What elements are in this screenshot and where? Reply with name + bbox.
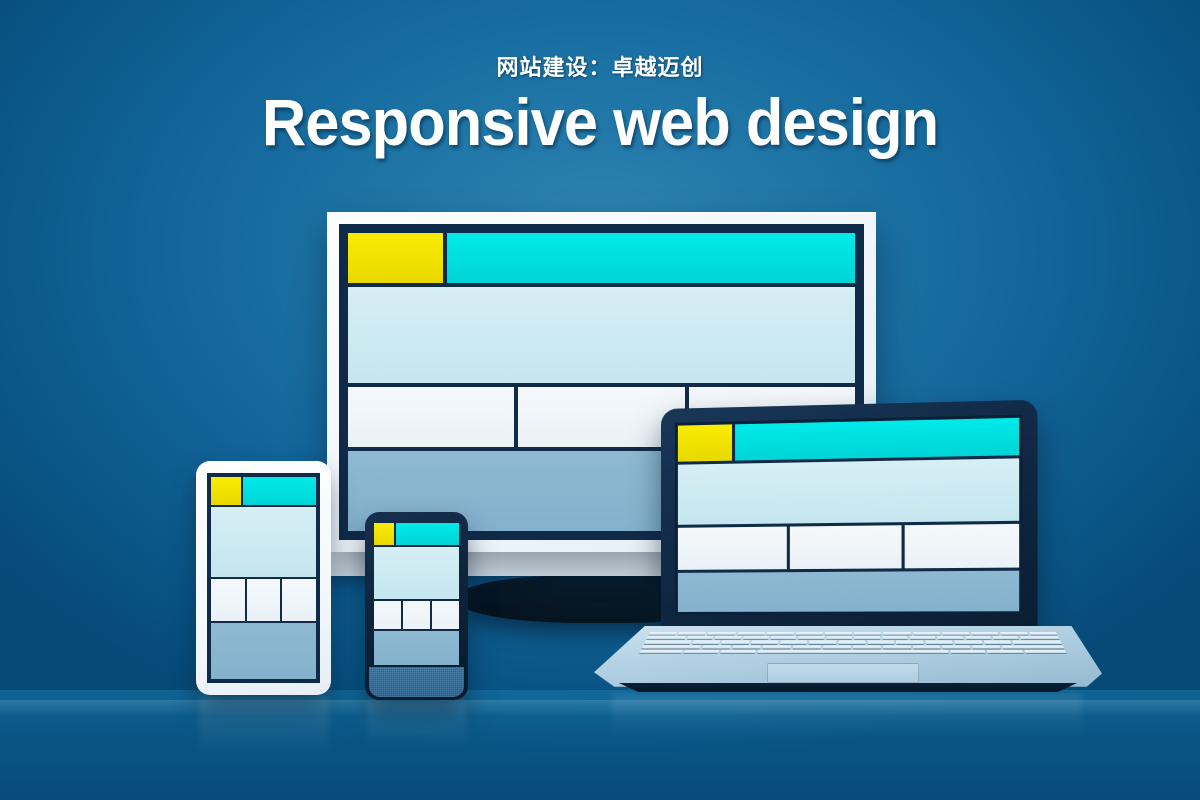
keyboard-key[interactable] xyxy=(702,645,731,648)
subtitle-chinese: 网站建设：卓越迈创 xyxy=(0,50,1200,82)
keyboard-key[interactable] xyxy=(896,641,923,644)
tablet-bezel xyxy=(207,473,320,683)
logo-block[interactable] xyxy=(374,523,394,545)
keyboard-key[interactable] xyxy=(854,632,881,635)
content-card-row xyxy=(374,601,459,629)
tablet-screen[interactable] xyxy=(211,477,316,679)
keyboard-key[interactable] xyxy=(1000,632,1028,635)
keyboard-key[interactable] xyxy=(882,636,908,639)
keyboard-key[interactable] xyxy=(883,645,911,648)
keyboard-key[interactable] xyxy=(883,632,911,635)
keyboard-key[interactable] xyxy=(751,641,779,644)
keyboard-key[interactable] xyxy=(992,636,1019,639)
laptop-base xyxy=(594,626,1102,692)
keyboard-key[interactable] xyxy=(826,636,852,639)
phone-reflection xyxy=(367,700,466,748)
nav-bar[interactable] xyxy=(735,418,1019,461)
footer-band xyxy=(211,623,316,679)
laptop-reflection xyxy=(612,694,1082,736)
laptop-bezel xyxy=(675,415,1022,615)
content-card-1[interactable] xyxy=(374,601,401,629)
content-card-1[interactable] xyxy=(348,387,514,447)
keyboard-key[interactable] xyxy=(721,641,749,644)
key-row xyxy=(644,641,1062,644)
keyboard-key[interactable] xyxy=(732,645,761,648)
laptop-front-edge xyxy=(604,683,1092,692)
keyboard-key[interactable] xyxy=(707,632,735,635)
logo-block[interactable] xyxy=(678,424,732,461)
keyboard-key[interactable] xyxy=(771,636,797,639)
key-row xyxy=(642,645,1065,648)
content-card-2[interactable] xyxy=(518,387,684,447)
device-laptop[interactable] xyxy=(661,400,1037,631)
keyboard-key[interactable] xyxy=(648,632,677,635)
content-card-1[interactable] xyxy=(678,527,787,570)
laptop-trackpad[interactable] xyxy=(767,663,919,683)
monitor-header-row xyxy=(348,233,855,283)
keyboard-key[interactable] xyxy=(965,636,992,639)
content-card-2[interactable] xyxy=(403,601,430,629)
keyboard-key[interactable] xyxy=(942,645,971,648)
laptop-header-row xyxy=(678,418,1019,462)
keyboard-key[interactable] xyxy=(1002,645,1065,648)
keyboard-key[interactable] xyxy=(757,650,949,653)
keyboard-key[interactable] xyxy=(954,641,982,644)
hero-banner xyxy=(374,547,459,599)
page-title: Responsive web design xyxy=(42,88,1158,157)
keyboard-key[interactable] xyxy=(972,645,1001,648)
tablet-reflection xyxy=(199,696,329,754)
content-card-2[interactable] xyxy=(790,525,902,569)
laptop-keyboard[interactable] xyxy=(639,632,1067,653)
nav-bar[interactable] xyxy=(243,477,316,505)
content-card-1[interactable] xyxy=(211,579,245,621)
logo-block[interactable] xyxy=(348,233,443,283)
keyboard-key[interactable] xyxy=(678,632,706,635)
keyboard-key[interactable] xyxy=(692,641,720,644)
hero-banner xyxy=(348,287,855,383)
keyboard-key[interactable] xyxy=(912,645,940,648)
keyboard-key[interactable] xyxy=(795,632,823,635)
keyboard-key[interactable] xyxy=(683,650,719,653)
keyboard-key[interactable] xyxy=(950,650,986,653)
keyboard-key[interactable] xyxy=(743,636,769,639)
key-row xyxy=(648,632,1057,635)
key-row xyxy=(646,636,1060,639)
keyboard-key[interactable] xyxy=(838,641,865,644)
content-card-2[interactable] xyxy=(247,579,281,621)
keyboard-key[interactable] xyxy=(825,632,852,635)
keyboard-key[interactable] xyxy=(983,641,1011,644)
phone-screen[interactable] xyxy=(374,523,459,665)
keyboard-key[interactable] xyxy=(853,645,881,648)
keyboard-key[interactable] xyxy=(1020,636,1060,639)
keyboard-key[interactable] xyxy=(1029,632,1058,635)
hero-banner xyxy=(211,507,316,577)
footer-band xyxy=(374,631,459,665)
keyboard-key[interactable] xyxy=(766,632,794,635)
keyboard-key[interactable] xyxy=(715,636,742,639)
keyboard-key[interactable] xyxy=(1024,650,1067,653)
keyboard-key[interactable] xyxy=(942,632,970,635)
content-card-row xyxy=(678,524,1019,570)
content-card-3[interactable] xyxy=(905,524,1020,568)
keyboard-key[interactable] xyxy=(780,641,807,644)
keyboard-key[interactable] xyxy=(763,645,791,648)
keyboard-key[interactable] xyxy=(912,632,940,635)
content-card-row xyxy=(211,579,316,621)
keyboard-key[interactable] xyxy=(925,641,953,644)
keyboard-key[interactable] xyxy=(809,641,836,644)
keyboard-key[interactable] xyxy=(687,636,714,639)
keyboard-key[interactable] xyxy=(854,636,880,639)
tablet-header-row xyxy=(211,477,316,505)
keyboard-key[interactable] xyxy=(737,632,765,635)
nav-bar[interactable] xyxy=(396,523,459,545)
keyboard-key[interactable] xyxy=(639,650,682,653)
scene: 网站建设：卓越迈创 Responsive web design xyxy=(0,0,1200,800)
content-card-3[interactable] xyxy=(282,579,316,621)
keyboard-key[interactable] xyxy=(987,650,1023,653)
device-tablet[interactable] xyxy=(196,461,331,695)
laptop-screen[interactable] xyxy=(678,418,1019,612)
keyboard-key[interactable] xyxy=(798,636,824,639)
keyboard-key[interactable] xyxy=(646,636,686,639)
keyboard-key[interactable] xyxy=(937,636,963,639)
key-row xyxy=(639,650,1067,653)
keyboard-key[interactable] xyxy=(971,632,999,635)
keyboard-key[interactable] xyxy=(867,641,894,644)
keyboard-key[interactable] xyxy=(642,645,702,648)
tablet-webpage-mock xyxy=(211,477,316,679)
content-card-3[interactable] xyxy=(432,601,459,629)
keyboard-key[interactable] xyxy=(793,645,821,648)
keyboard-key[interactable] xyxy=(823,645,851,648)
keyboard-key[interactable] xyxy=(720,650,756,653)
logo-block[interactable] xyxy=(211,477,241,505)
laptop-webpage-mock xyxy=(678,418,1019,612)
phone-bottom-bezel xyxy=(369,667,464,697)
keyboard-key[interactable] xyxy=(1012,641,1062,644)
device-smartphone[interactable] xyxy=(365,512,468,700)
footer-band xyxy=(678,571,1019,612)
nav-bar[interactable] xyxy=(447,233,855,283)
keyboard-key[interactable] xyxy=(644,641,691,644)
hero-banner xyxy=(678,458,1019,524)
keyboard-key[interactable] xyxy=(909,636,935,639)
headline-block: 网站建设：卓越迈创 Responsive web design xyxy=(0,50,1200,157)
phone-header-row xyxy=(374,523,459,545)
